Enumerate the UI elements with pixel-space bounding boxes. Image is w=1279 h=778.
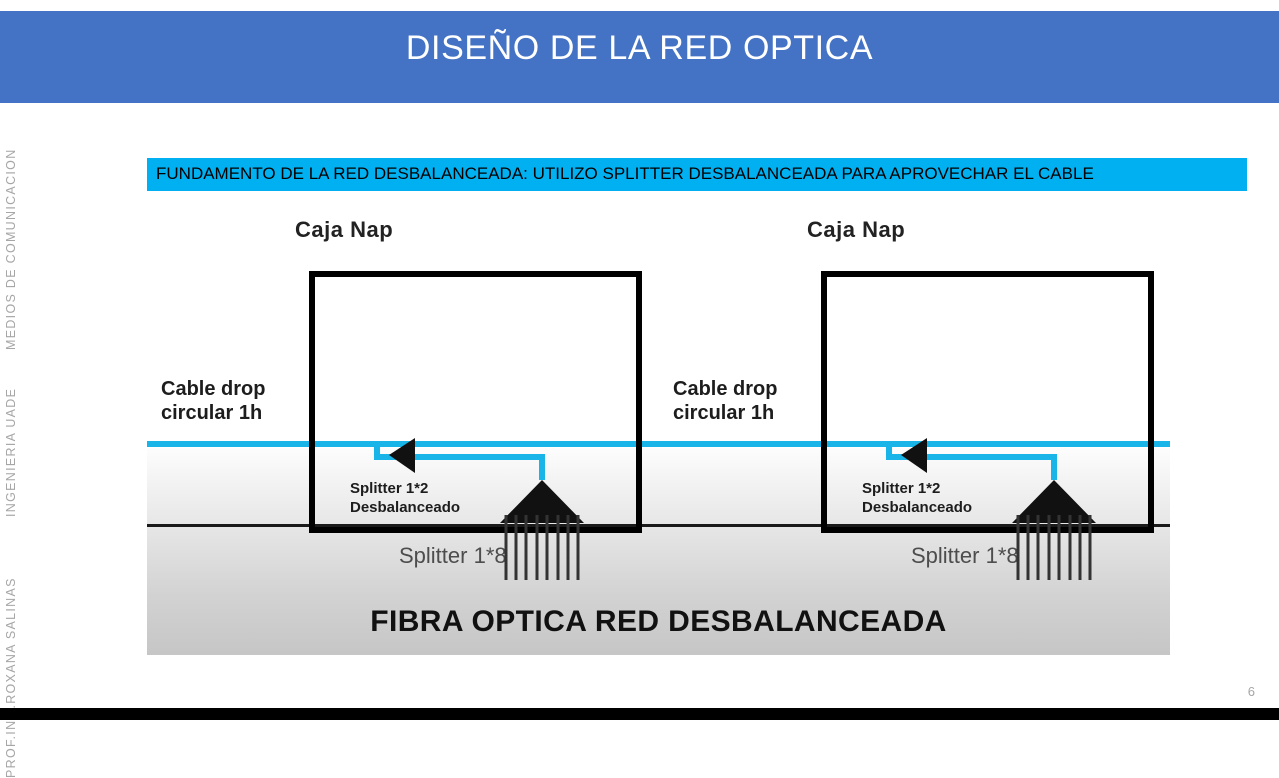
side-caption-line-professor: PROF.ING.ROXANA SALINAS <box>4 523 30 778</box>
nap-unit: Caja Nap Cable drop circular 1h Splitter… <box>659 205 1170 655</box>
side-caption: MEDIOS DE COMUNICACION INGENIERIA UADE P… <box>4 135 30 680</box>
side-caption-line-course: MEDIOS DE COMUNICACION <box>4 135 30 350</box>
flow-direction-arrow <box>901 438 927 473</box>
footer-bar <box>0 708 1279 720</box>
nap-fiber-routing <box>659 205 1170 655</box>
slide-title-band: DISEÑO DE LA RED OPTICA <box>0 11 1279 103</box>
splitter-1x8-outputs <box>506 515 578 580</box>
splitter-1x8-body <box>500 480 584 523</box>
info-banner: FUNDAMENTO DE LA RED DESBALANCEADA: UTIL… <box>147 158 1247 191</box>
page-title: DISEÑO DE LA RED OPTICA <box>0 29 1279 68</box>
flow-direction-arrow <box>389 438 415 473</box>
side-caption-line-school: INGENIERIA UADE <box>4 357 30 517</box>
page-number: 6 <box>1248 684 1255 699</box>
fibra-optica-caption: FIBRA OPTICA RED DESBALANCEADA <box>147 605 1170 639</box>
slide-canvas: DISEÑO DE LA RED OPTICA MEDIOS DE COMUNI… <box>0 0 1279 720</box>
nap-fiber-routing <box>147 205 659 655</box>
network-diagram: Caja Nap Cable drop circular 1h Splitter… <box>147 205 1170 655</box>
nap-unit: Caja Nap Cable drop circular 1h Splitter… <box>147 205 659 655</box>
info-banner-text: FUNDAMENTO DE LA RED DESBALANCEADA: UTIL… <box>156 164 1094 184</box>
splitter-1x8-body <box>1012 480 1096 523</box>
splitter-1x8-outputs <box>1018 515 1090 580</box>
